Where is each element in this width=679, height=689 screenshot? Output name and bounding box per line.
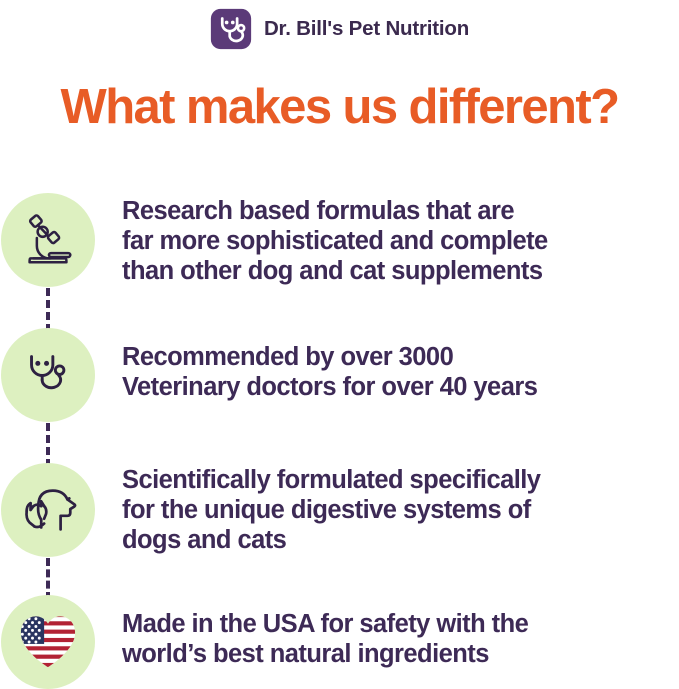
feature-text: Research based formulas that are far mor… [122, 193, 548, 286]
feature-item-research: Research based formulas that are far mor… [0, 193, 679, 287]
feature-badge [1, 328, 95, 422]
usa-flag-heart-icon [15, 611, 81, 673]
feature-badge [1, 193, 95, 287]
infographic-page: Dr. Bill's Pet Nutrition What makes us d… [0, 0, 679, 689]
feature-badge [1, 595, 95, 689]
rail-dash-1 [46, 288, 50, 332]
stethoscope-icon [17, 344, 79, 406]
feature-item-recommended: Recommended by over 3000 Veterinary doct… [0, 328, 679, 422]
dog-and-cat-icon [15, 479, 81, 541]
feature-badge [1, 463, 95, 557]
feature-item-scientific: Scientifically formulated specifically f… [0, 463, 679, 557]
microscope-icon [17, 209, 79, 271]
feature-text: Made in the USA for safety with the worl… [122, 595, 528, 669]
stethoscope-face-logo-icon [210, 8, 252, 50]
page-title: What makes us different? [0, 82, 679, 133]
rail-dash-3 [46, 558, 50, 600]
rail-dash-2 [46, 423, 50, 467]
feature-text: Scientifically formulated specifically f… [122, 463, 540, 555]
brand-name: Dr. Bill's Pet Nutrition [264, 19, 469, 40]
feature-text: Recommended by over 3000 Veterinary doct… [122, 328, 537, 402]
feature-item-made-in-usa: Made in the USA for safety with the worl… [0, 595, 679, 689]
brand-header: Dr. Bill's Pet Nutrition [0, 8, 679, 50]
